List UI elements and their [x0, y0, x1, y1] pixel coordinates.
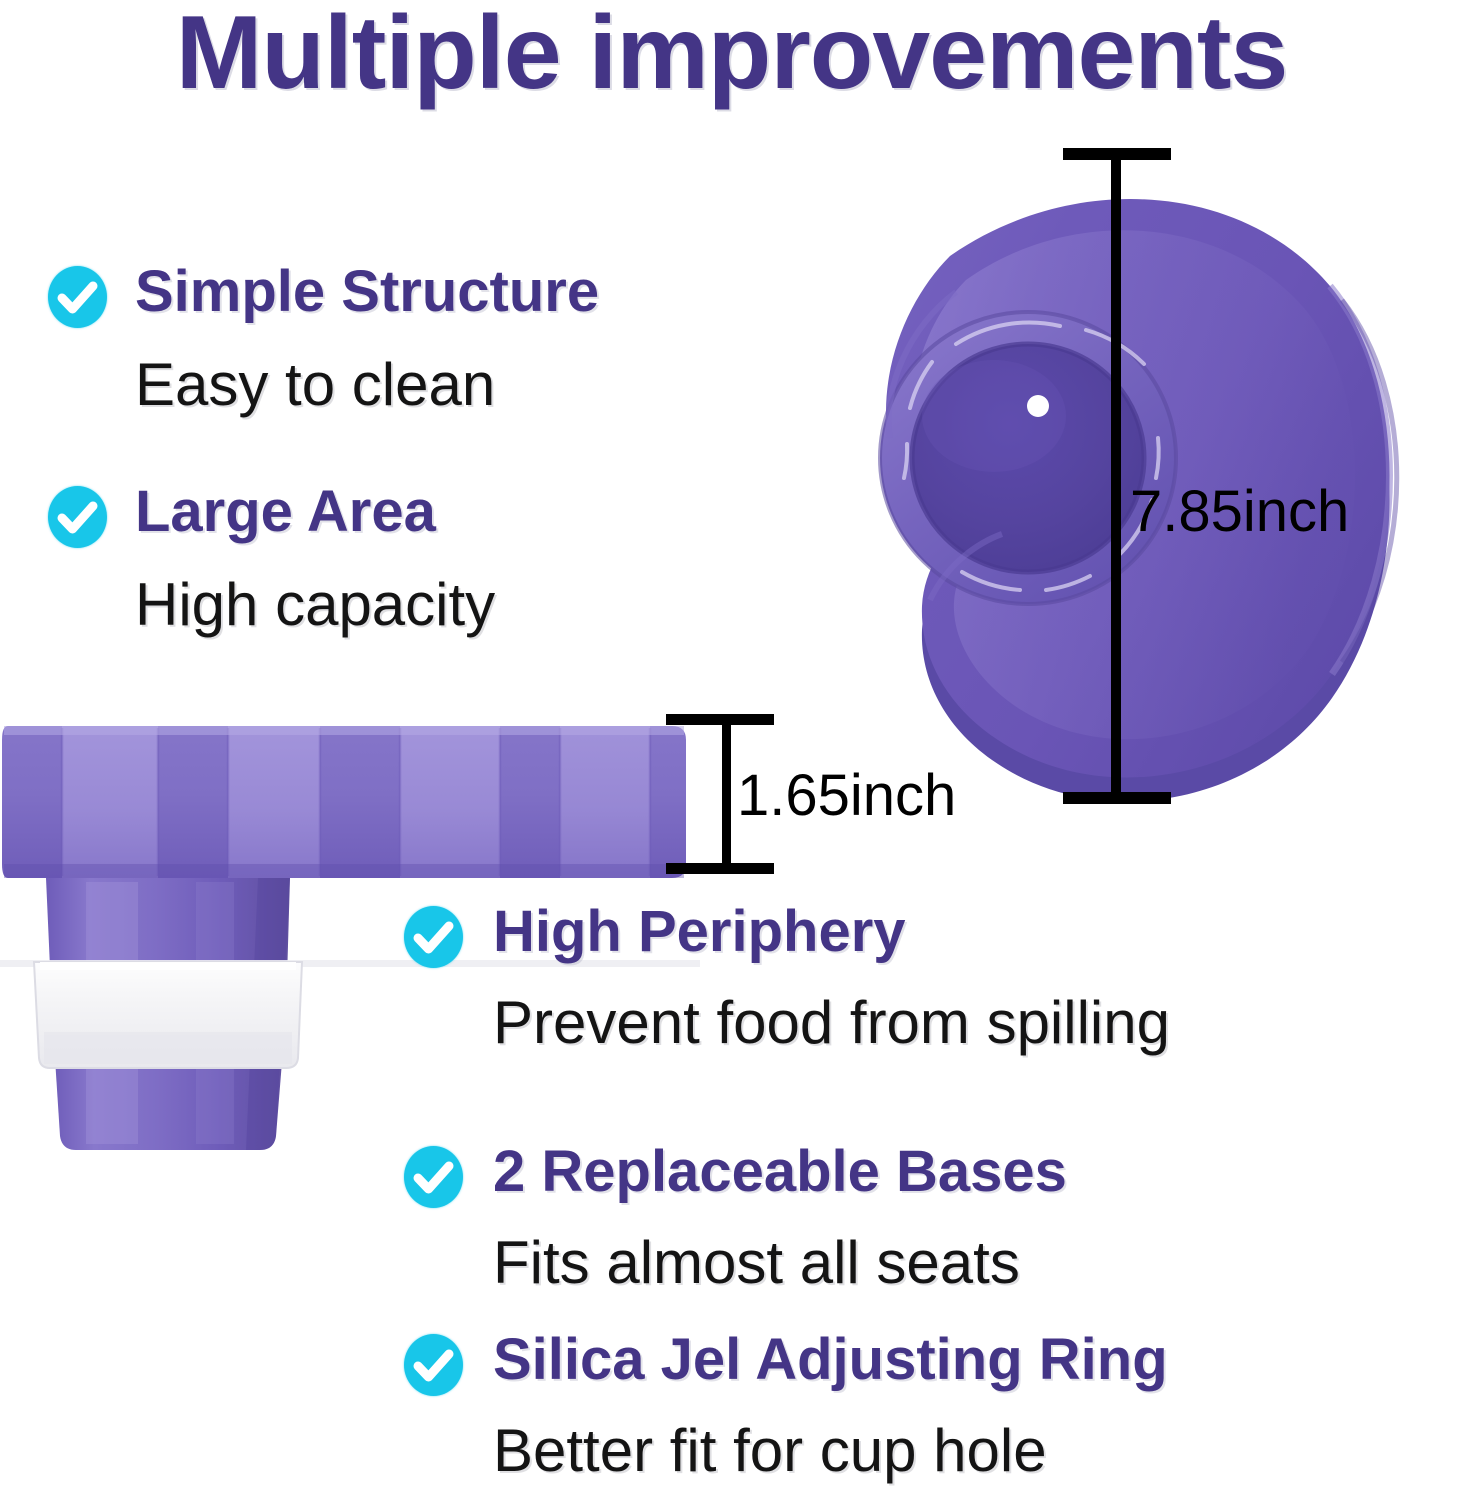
feature-subtitle: Easy to clean	[135, 354, 599, 415]
dimension-line-vertical	[722, 719, 731, 869]
check-circle-icon	[48, 486, 107, 548]
feature-subtitle: Better fit for cup hole	[493, 1420, 1168, 1481]
feature-heading-row: 2 Replaceable Bases	[404, 1142, 1067, 1208]
feature-heading-row: Simple Structure	[48, 262, 599, 328]
feature-item-simple-structure: Simple Structure Easy to clean	[48, 262, 599, 415]
dimension-line-vertical	[1111, 154, 1121, 798]
check-circle-icon	[404, 1334, 463, 1396]
feature-subtitle: High capacity	[135, 574, 495, 635]
feature-subtitle: Prevent food from spilling	[493, 992, 1170, 1053]
check-circle-icon	[404, 1146, 463, 1208]
dimension-height-label: 7.85inch	[1130, 478, 1349, 545]
feature-title: High Periphery	[493, 902, 906, 961]
feature-item-silica-jel-ring: Silica Jel Adjusting Ring Better fit for…	[404, 1330, 1168, 1481]
feature-title: Large Area	[135, 482, 436, 541]
check-circle-icon	[48, 266, 107, 328]
feature-item-replaceable-bases: 2 Replaceable Bases Fits almost all seat…	[404, 1142, 1067, 1293]
feature-subtitle: Fits almost all seats	[493, 1232, 1067, 1293]
feature-title: Simple Structure	[135, 262, 599, 321]
dimension-cap-top	[666, 714, 774, 725]
dimension-thickness-label: 1.65inch	[737, 762, 956, 829]
feature-item-high-periphery: High Periphery Prevent food from spillin…	[404, 902, 1170, 1053]
feature-title: Silica Jel Adjusting Ring	[493, 1330, 1168, 1389]
dimension-height-line	[1063, 148, 1173, 804]
feature-item-large-area: Large Area High capacity	[48, 482, 495, 635]
feature-title: 2 Replaceable Bases	[493, 1142, 1067, 1201]
feature-heading-row: Large Area	[48, 482, 495, 548]
dimension-cap-bottom	[666, 863, 774, 874]
dimension-cap-bottom	[1063, 792, 1171, 804]
check-circle-icon	[404, 906, 463, 968]
page-title: Multiple improvements	[0, 0, 1463, 114]
infographic-page: Multiple improvements	[0, 0, 1463, 1500]
feature-heading-row: High Periphery	[404, 902, 1170, 968]
feature-heading-row: Silica Jel Adjusting Ring	[404, 1330, 1168, 1396]
